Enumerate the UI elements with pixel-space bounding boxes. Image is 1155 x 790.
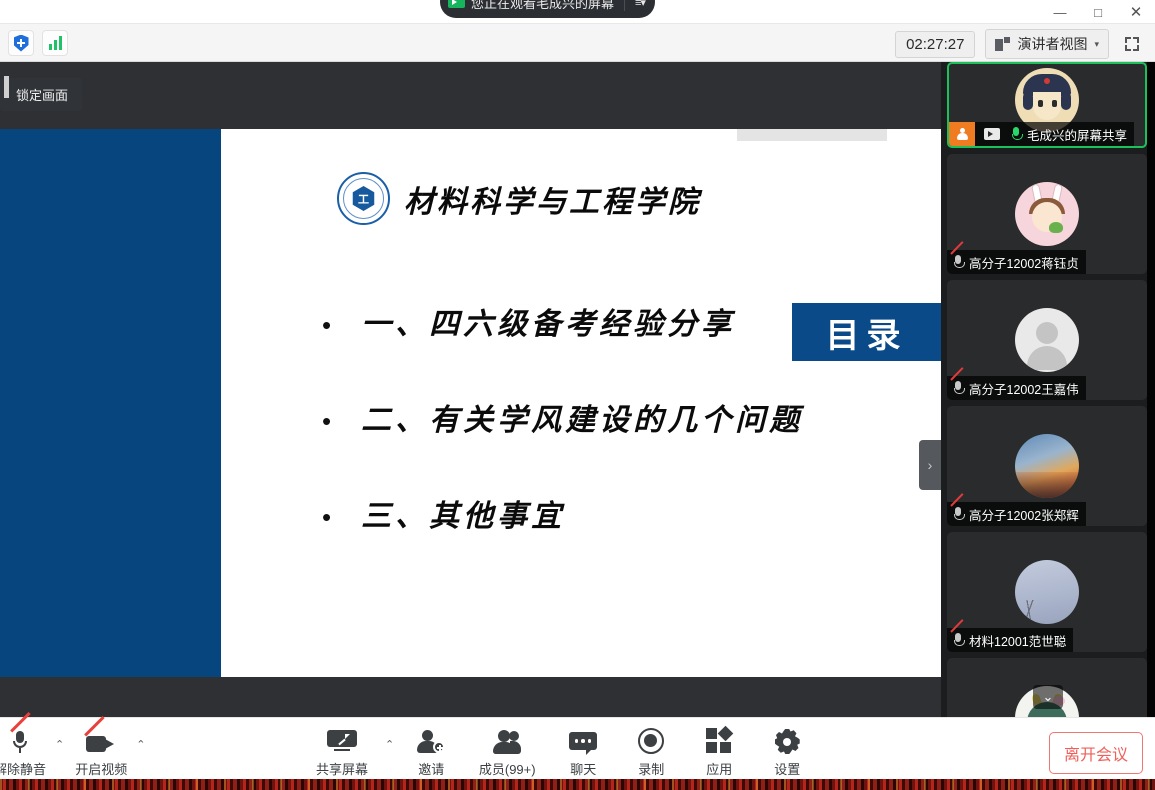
toolbar-left-group bbox=[8, 30, 68, 56]
bullet-text: 二、有关学风建设的几个问题 bbox=[361, 395, 803, 439]
shared-screen-stage: 锁定画面 工 材料科学与工程学院 目录 • 一、四六级备考经验分享 • bbox=[0, 62, 941, 717]
settings-button[interactable]: 设置 bbox=[753, 724, 821, 778]
gear-icon bbox=[775, 728, 800, 754]
list-item: • 三、其他事宜 bbox=[322, 491, 922, 535]
record-button[interactable]: 录制 bbox=[617, 724, 685, 778]
invite-label: 邀请 bbox=[418, 759, 444, 778]
apps-grid-icon bbox=[706, 728, 732, 754]
participant-namebar: 高分子12002张郑辉 bbox=[947, 502, 1086, 526]
avatar bbox=[1015, 182, 1079, 246]
video-options-chevron-icon[interactable]: ⌃ bbox=[135, 724, 148, 778]
meeting-toolbar: 02:27:27 演讲者视图 ▾ bbox=[0, 24, 1155, 62]
list-item: • 二、有关学风建设的几个问题 bbox=[322, 395, 922, 439]
participant-name: 毛成兴的屏幕共享 bbox=[1027, 125, 1127, 144]
bullet-text: 一、四六级备考经验分享 bbox=[361, 299, 735, 343]
participant-namebar: 高分子12002蒋钰贞 bbox=[947, 250, 1086, 274]
slide-bullet-list: • 一、四六级备考经验分享 • 二、有关学风建设的几个问题 • 三、其他事宜 bbox=[322, 299, 922, 587]
view-mode-selector[interactable]: 演讲者视图 ▾ bbox=[985, 29, 1109, 59]
participant-namebar: 材料12001范世聪 bbox=[947, 628, 1073, 652]
view-mode-label: 演讲者视图 bbox=[1017, 34, 1087, 54]
slide-top-strip bbox=[737, 129, 887, 141]
divider bbox=[624, 0, 625, 11]
sharing-notice-text: 您正在观看毛成兴的屏幕 bbox=[471, 0, 614, 12]
mic-off-icon bbox=[952, 506, 964, 522]
people-icon bbox=[492, 728, 522, 754]
participant-name: 高分子12002王嘉伟 bbox=[969, 379, 1079, 398]
participant-rail[interactable]: 毛成兴的屏幕共享 高分子12002蒋钰贞 高分子12002王嘉伟 bbox=[941, 62, 1155, 717]
security-shield-button[interactable] bbox=[8, 30, 34, 56]
participant-name: 高分子12002蒋钰贞 bbox=[969, 253, 1079, 272]
video-off-icon bbox=[86, 728, 116, 754]
bullet-marker: • bbox=[322, 408, 331, 434]
school-name-text: 材料科学与工程学院 bbox=[404, 177, 701, 221]
meeting-timer: 02:27:27 bbox=[895, 31, 975, 58]
share-options-chevron-icon[interactable]: ⌃ bbox=[384, 724, 397, 751]
lock-screen-icon bbox=[4, 76, 9, 98]
share-screen-button[interactable]: 共享屏幕 bbox=[300, 724, 384, 778]
slide-left-accent-bar bbox=[0, 129, 221, 677]
leave-meeting-button[interactable]: 离开会议 bbox=[1049, 732, 1143, 774]
mic-off-icon bbox=[952, 380, 964, 396]
start-video-label: 开启视频 bbox=[75, 759, 127, 778]
invite-button[interactable]: 邀请 bbox=[397, 724, 465, 778]
apps-label: 应用 bbox=[706, 759, 732, 778]
sharing-notice-pill[interactable]: 您正在观看毛成兴的屏幕 ≡▾ bbox=[440, 0, 655, 18]
mute-label: 解除静音 bbox=[0, 759, 46, 778]
slide-header: 工 材料科学与工程学院 bbox=[337, 172, 701, 225]
scroll-down-button[interactable]: ⌄ bbox=[1033, 685, 1063, 709]
mic-off-icon bbox=[952, 632, 964, 648]
av-controls-group: 解除静音 ⌃ 开启视频 ⌃ bbox=[0, 724, 148, 778]
mic-off-icon bbox=[952, 254, 964, 270]
bullet-marker: • bbox=[322, 504, 331, 530]
participant-tile[interactable]: 材料12001范世聪 bbox=[947, 532, 1147, 652]
background-photo-strip bbox=[0, 779, 1155, 790]
share-screen-label: 共享屏幕 bbox=[316, 759, 368, 778]
bullet-text: 三、其他事宜 bbox=[361, 491, 565, 535]
participant-tile[interactable]: 高分子12002蒋钰贞 bbox=[947, 154, 1147, 274]
start-video-button[interactable]: 开启视频 bbox=[67, 724, 135, 778]
signal-bars-icon bbox=[49, 36, 62, 50]
chat-bubble-icon bbox=[569, 728, 597, 754]
maximize-icon[interactable]: □ bbox=[1079, 0, 1117, 24]
participant-tile[interactable]: 高分子12002张郑辉 bbox=[947, 406, 1147, 526]
mic-off-icon bbox=[12, 728, 28, 754]
close-icon[interactable]: ✕ bbox=[1117, 0, 1155, 24]
meeting-control-bar: 解除静音 ⌃ 开启视频 ⌃ 共享屏幕 ⌃ bbox=[0, 717, 1155, 779]
participant-name: 材料12001范世聪 bbox=[969, 631, 1066, 650]
screen-share-icon bbox=[448, 0, 465, 8]
more-options-icon[interactable]: ≡▾ bbox=[635, 0, 645, 9]
main-controls-group: 共享屏幕 ⌃ 邀请 成员(99+) 聊天 bbox=[300, 724, 821, 778]
chat-label: 聊天 bbox=[570, 759, 596, 778]
window-controls: — □ ✕ bbox=[1041, 0, 1155, 24]
chat-button[interactable]: 聊天 bbox=[549, 724, 617, 778]
list-item: • 一、四六级备考经验分享 bbox=[322, 299, 922, 343]
network-stats-button[interactable] bbox=[42, 30, 68, 56]
participant-namebar: 毛成兴的屏幕共享 bbox=[949, 122, 1134, 146]
collapse-panel-handle[interactable]: › bbox=[919, 440, 941, 490]
lock-screen-tooltip: 锁定画面 bbox=[0, 78, 82, 111]
participant-tile[interactable]: 高分子12002王嘉伟 bbox=[947, 280, 1147, 400]
settings-label: 设置 bbox=[774, 759, 800, 778]
shield-plus-icon bbox=[14, 35, 29, 52]
rail-edge-shadow bbox=[1147, 62, 1155, 717]
participants-label: 成员(99+) bbox=[479, 759, 536, 778]
seal-center-text: 工 bbox=[351, 186, 376, 211]
person-icon bbox=[957, 128, 968, 141]
avatar bbox=[1015, 560, 1079, 624]
share-screen-icon bbox=[327, 728, 357, 754]
record-circle-icon bbox=[638, 728, 664, 754]
apps-button[interactable]: 应用 bbox=[685, 724, 753, 778]
participant-tile-screen-share[interactable]: 毛成兴的屏幕共享 bbox=[947, 62, 1147, 148]
participant-namebar: 高分子12002王嘉伟 bbox=[947, 376, 1086, 400]
chevron-down-icon: ▾ bbox=[1094, 39, 1099, 50]
layout-icon bbox=[995, 37, 1010, 51]
toolbar-right-group: 02:27:27 演讲者视图 ▾ bbox=[895, 29, 1145, 59]
bullet-marker: • bbox=[322, 312, 331, 338]
avatar bbox=[1015, 434, 1079, 498]
avatar bbox=[1015, 308, 1079, 372]
fullscreen-button[interactable] bbox=[1119, 31, 1145, 57]
record-label: 录制 bbox=[638, 759, 664, 778]
participants-button[interactable]: 成员(99+) bbox=[465, 724, 549, 778]
invite-person-icon bbox=[417, 728, 445, 754]
meeting-window: — □ ✕ 您正在观看毛成兴的屏幕 ≡▾ 02:27:27 演讲者视图 ▾ bbox=[0, 0, 1155, 790]
participant-name: 高分子12002张郑辉 bbox=[969, 505, 1079, 524]
mic-on-icon bbox=[1010, 126, 1022, 142]
minimize-icon[interactable]: — bbox=[1041, 0, 1079, 24]
fullscreen-icon bbox=[1125, 37, 1139, 51]
school-seal-logo: 工 bbox=[337, 172, 390, 225]
audio-options-chevron-icon[interactable]: ⌃ bbox=[54, 724, 67, 778]
presentation-slide: 工 材料科学与工程学院 目录 • 一、四六级备考经验分享 • 二、有关学风建设的… bbox=[0, 129, 941, 677]
screen-share-icon bbox=[984, 128, 1000, 140]
mute-button[interactable]: 解除静音 bbox=[0, 724, 54, 778]
host-badge bbox=[949, 122, 975, 146]
